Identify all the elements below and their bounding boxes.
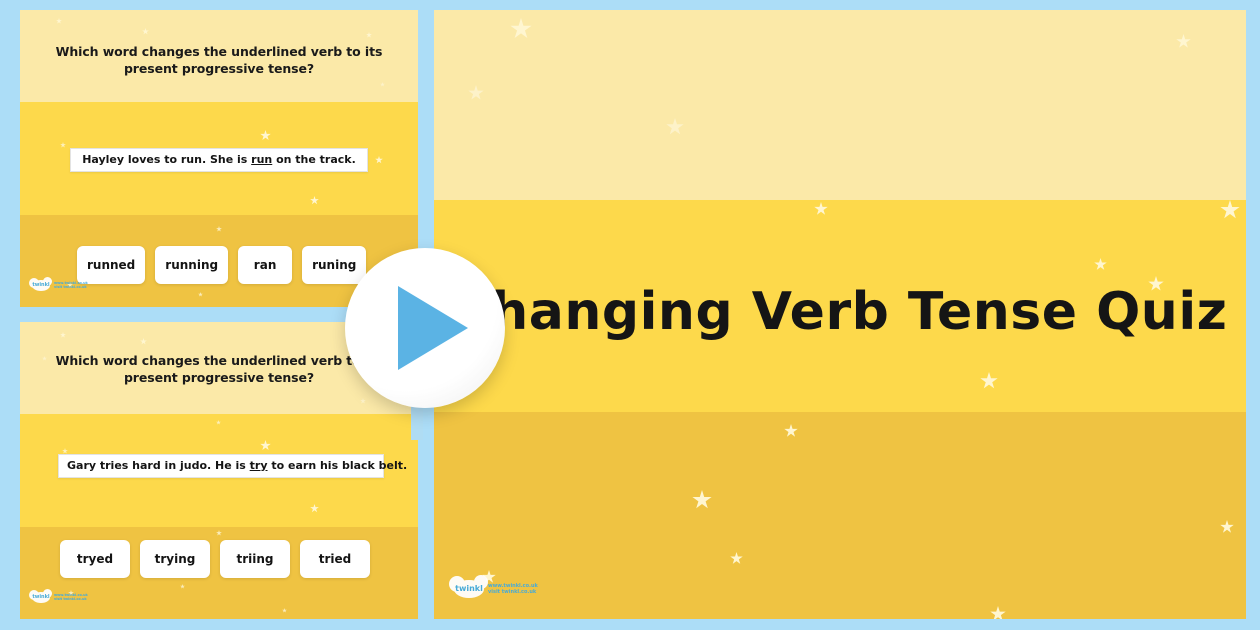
play-button[interactable] <box>345 248 505 408</box>
main-band-bottom <box>434 412 1246 619</box>
slide2-sentence-prefix: Gary tries hard in judo. He is <box>67 459 250 472</box>
slide2-answer-option-4[interactable]: tried <box>300 540 370 578</box>
slide1-sentence-prefix: Hayley loves to run. She is <box>82 153 251 166</box>
twinkl-url-secondary: visit twinkl.co.uk <box>54 598 88 601</box>
slide1-sentence-suffix: on the track. <box>272 153 356 166</box>
slide1-answer-row: runned running ran runing <box>77 246 366 284</box>
slide2-answer-option-1[interactable]: tryed <box>60 540 130 578</box>
twinkl-url-secondary: visit twinkl.co.uk <box>488 590 538 595</box>
twinkl-cloud-icon: twinkl <box>32 280 50 291</box>
slide2-twinkl-logo: twinkl www.twinkl.co.uk visit twinkl.co.… <box>32 592 88 603</box>
twinkl-url-block: www.twinkl.co.uk visit twinkl.co.uk <box>54 594 88 602</box>
twinkl-wordmark: twinkl <box>455 585 483 593</box>
twinkl-cloud-icon: twinkl <box>32 592 50 603</box>
slide1-sentence-underlined-verb: run <box>251 153 272 166</box>
main-title: Changing Verb Tense Quiz <box>434 282 1246 342</box>
twinkl-cloud-icon: twinkl <box>454 580 484 598</box>
slide2-answer-option-3[interactable]: triing <box>220 540 290 578</box>
main-twinkl-logo: twinkl www.twinkl.co.uk visit twinkl.co.… <box>454 580 538 598</box>
slide2-sentence-suffix: to earn his black belt. <box>268 459 408 472</box>
twinkl-url-secondary: visit twinkl.co.uk <box>54 286 88 289</box>
twinkl-url-block: www.twinkl.co.uk visit twinkl.co.uk <box>54 282 88 290</box>
twinkl-url-block: www.twinkl.co.uk visit twinkl.co.uk <box>488 584 538 595</box>
twinkl-url-primary: www.twinkl.co.uk <box>488 584 538 589</box>
preview-stage: Which word changes the underlined verb t… <box>0 0 1260 630</box>
slide2-sentence-box: Gary tries hard in judo. He is try to ea… <box>58 454 384 478</box>
slide1-sentence-box: Hayley loves to run. She is run on the t… <box>70 148 368 172</box>
slide2-answer-row: tryed trying triing tried <box>60 540 370 578</box>
slide1-answer-option-1[interactable]: runned <box>77 246 145 284</box>
slide1-answer-option-3[interactable]: ran <box>238 246 292 284</box>
slide1-question-text: Which word changes the underlined verb t… <box>44 43 394 77</box>
slide1-twinkl-logo: twinkl www.twinkl.co.uk visit twinkl.co.… <box>32 280 88 291</box>
twinkl-wordmark: twinkl <box>32 595 49 600</box>
slide2-answer-option-2[interactable]: trying <box>140 540 210 578</box>
slide1-answer-option-2[interactable]: running <box>155 246 228 284</box>
main-band-top <box>434 10 1246 200</box>
slide1-answer-option-4[interactable]: runing <box>302 246 366 284</box>
play-triangle-icon <box>398 286 468 370</box>
main-preview-panel[interactable]: Changing Verb Tense Quiz twinkl www.twin… <box>434 10 1246 619</box>
slide2-question-text: Which word changes the underlined verb t… <box>44 352 394 386</box>
slide-thumbnail-1[interactable]: Which word changes the underlined verb t… <box>20 10 418 307</box>
slide2-sentence-underlined-verb: try <box>250 459 268 472</box>
twinkl-wordmark: twinkl <box>32 283 49 288</box>
